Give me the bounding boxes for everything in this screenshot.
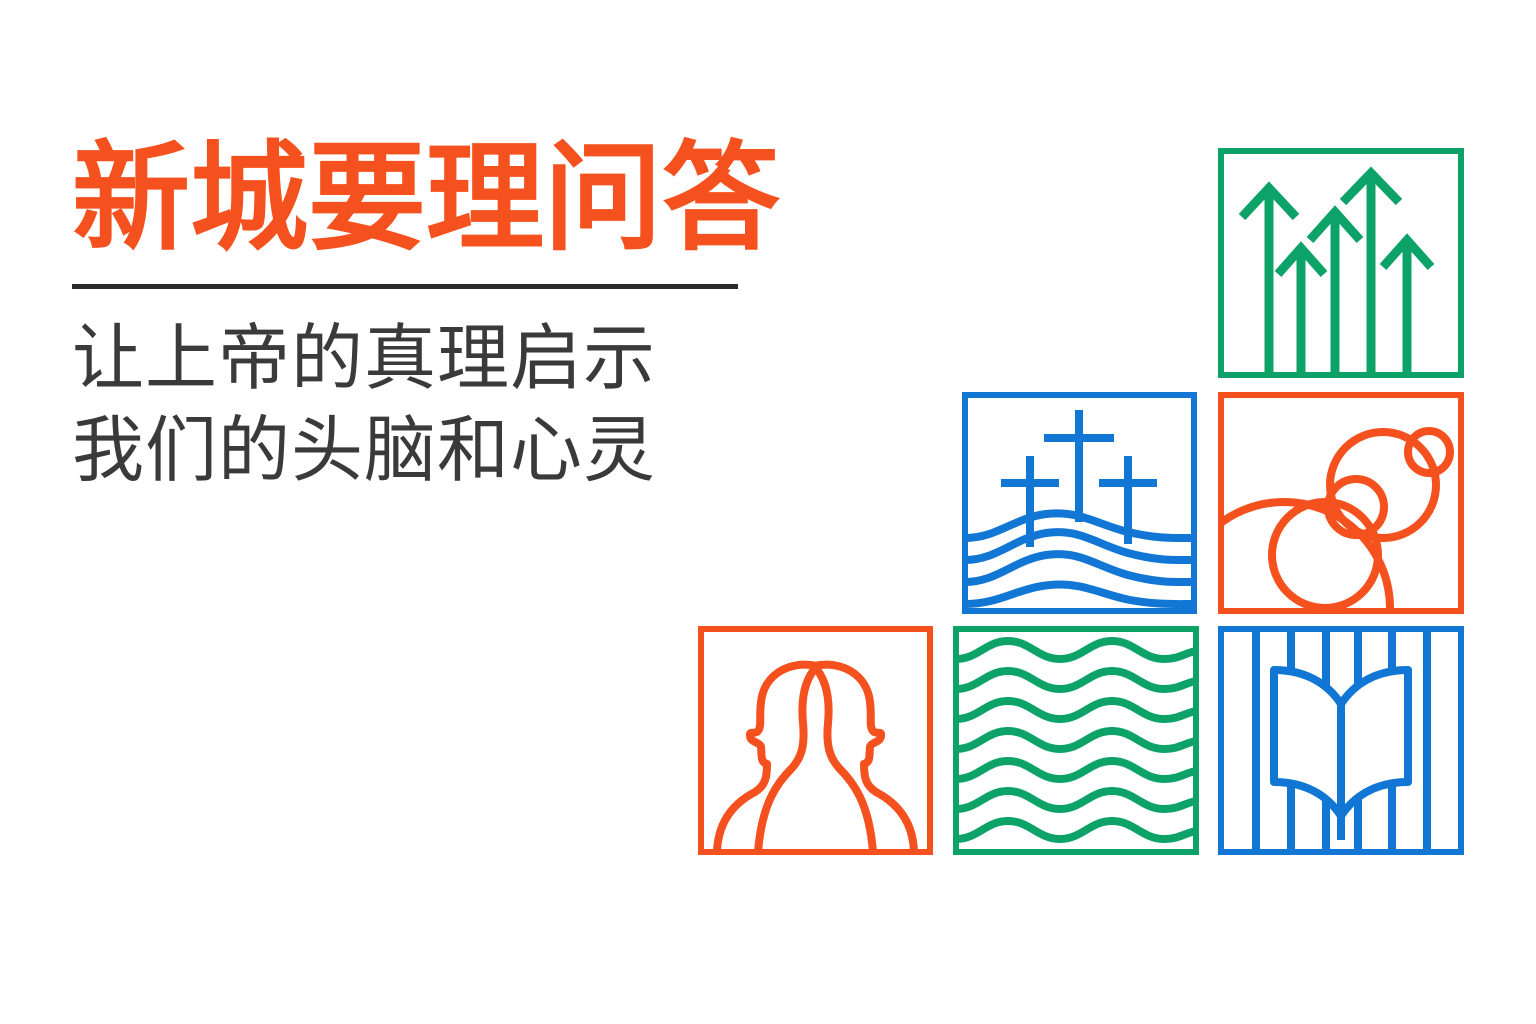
title-block: 新城要理问答 让上帝的真理启示 我们的头脑和心灵 bbox=[72, 140, 772, 497]
tile-ascending-circles bbox=[1218, 392, 1464, 614]
three-crosses-hill-icon bbox=[962, 392, 1197, 614]
page-title: 新城要理问答 bbox=[72, 140, 772, 258]
upward-arrows-icon bbox=[1218, 148, 1464, 378]
bubbles-icon bbox=[1218, 392, 1464, 614]
tile-two-profiles bbox=[698, 626, 933, 855]
tile-three-crosses bbox=[962, 392, 1197, 614]
subtitle-line-2: 我们的头脑和心灵 bbox=[72, 405, 772, 497]
subtitle-line-1: 让上帝的真理启示 bbox=[72, 313, 772, 405]
two-profiles-icon bbox=[698, 626, 933, 855]
tile-open-book bbox=[1218, 626, 1464, 855]
tile-water-waves bbox=[953, 626, 1199, 855]
poster-canvas: 新城要理问答 让上帝的真理启示 我们的头脑和心灵 bbox=[0, 0, 1536, 1024]
water-waves-icon bbox=[953, 626, 1199, 855]
tile-growth-arrows bbox=[1218, 148, 1464, 378]
title-divider bbox=[72, 284, 738, 289]
open-book-icon bbox=[1218, 626, 1464, 855]
page-subtitle: 让上帝的真理启示 我们的头脑和心灵 bbox=[72, 313, 772, 497]
